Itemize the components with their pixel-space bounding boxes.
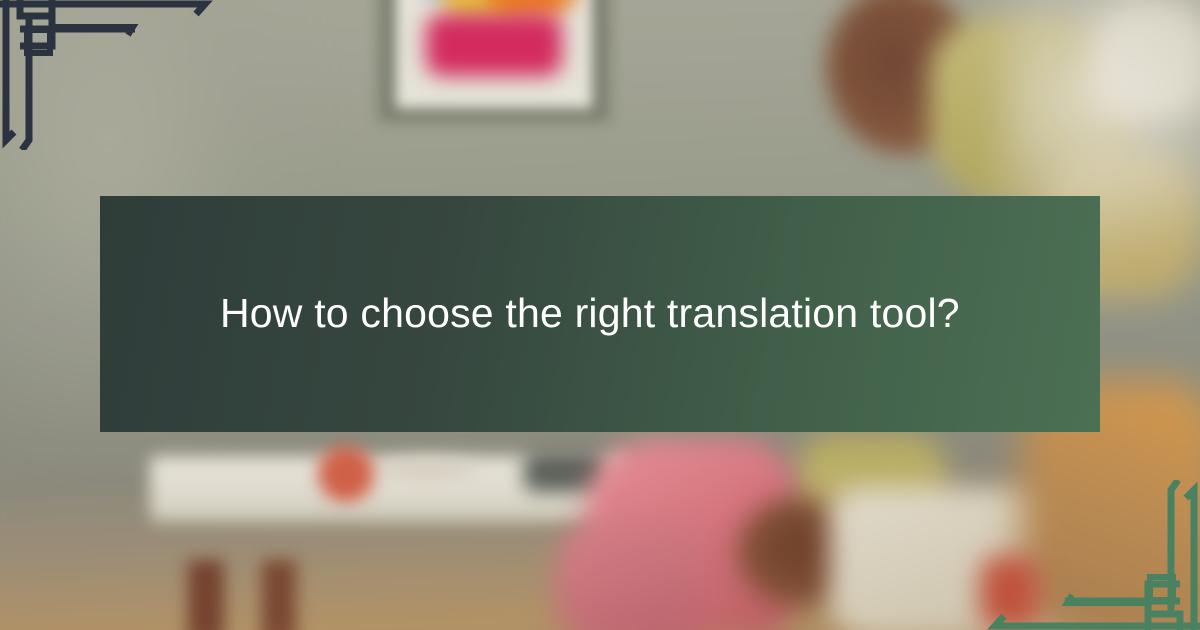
table-plate xyxy=(380,458,476,480)
screenshot-canvas: How to choose the right translation tool… xyxy=(0,0,1200,630)
table-leg-right xyxy=(262,560,296,630)
title-banner: How to choose the right translation tool… xyxy=(100,196,1100,432)
table-leg-left xyxy=(188,560,224,630)
page-title: How to choose the right translation tool… xyxy=(100,289,960,338)
artwork-pink-shape xyxy=(426,14,562,76)
pink-chair-lower xyxy=(556,520,706,630)
red-ball-object xyxy=(318,446,374,502)
red-object-small xyxy=(980,556,1040,630)
